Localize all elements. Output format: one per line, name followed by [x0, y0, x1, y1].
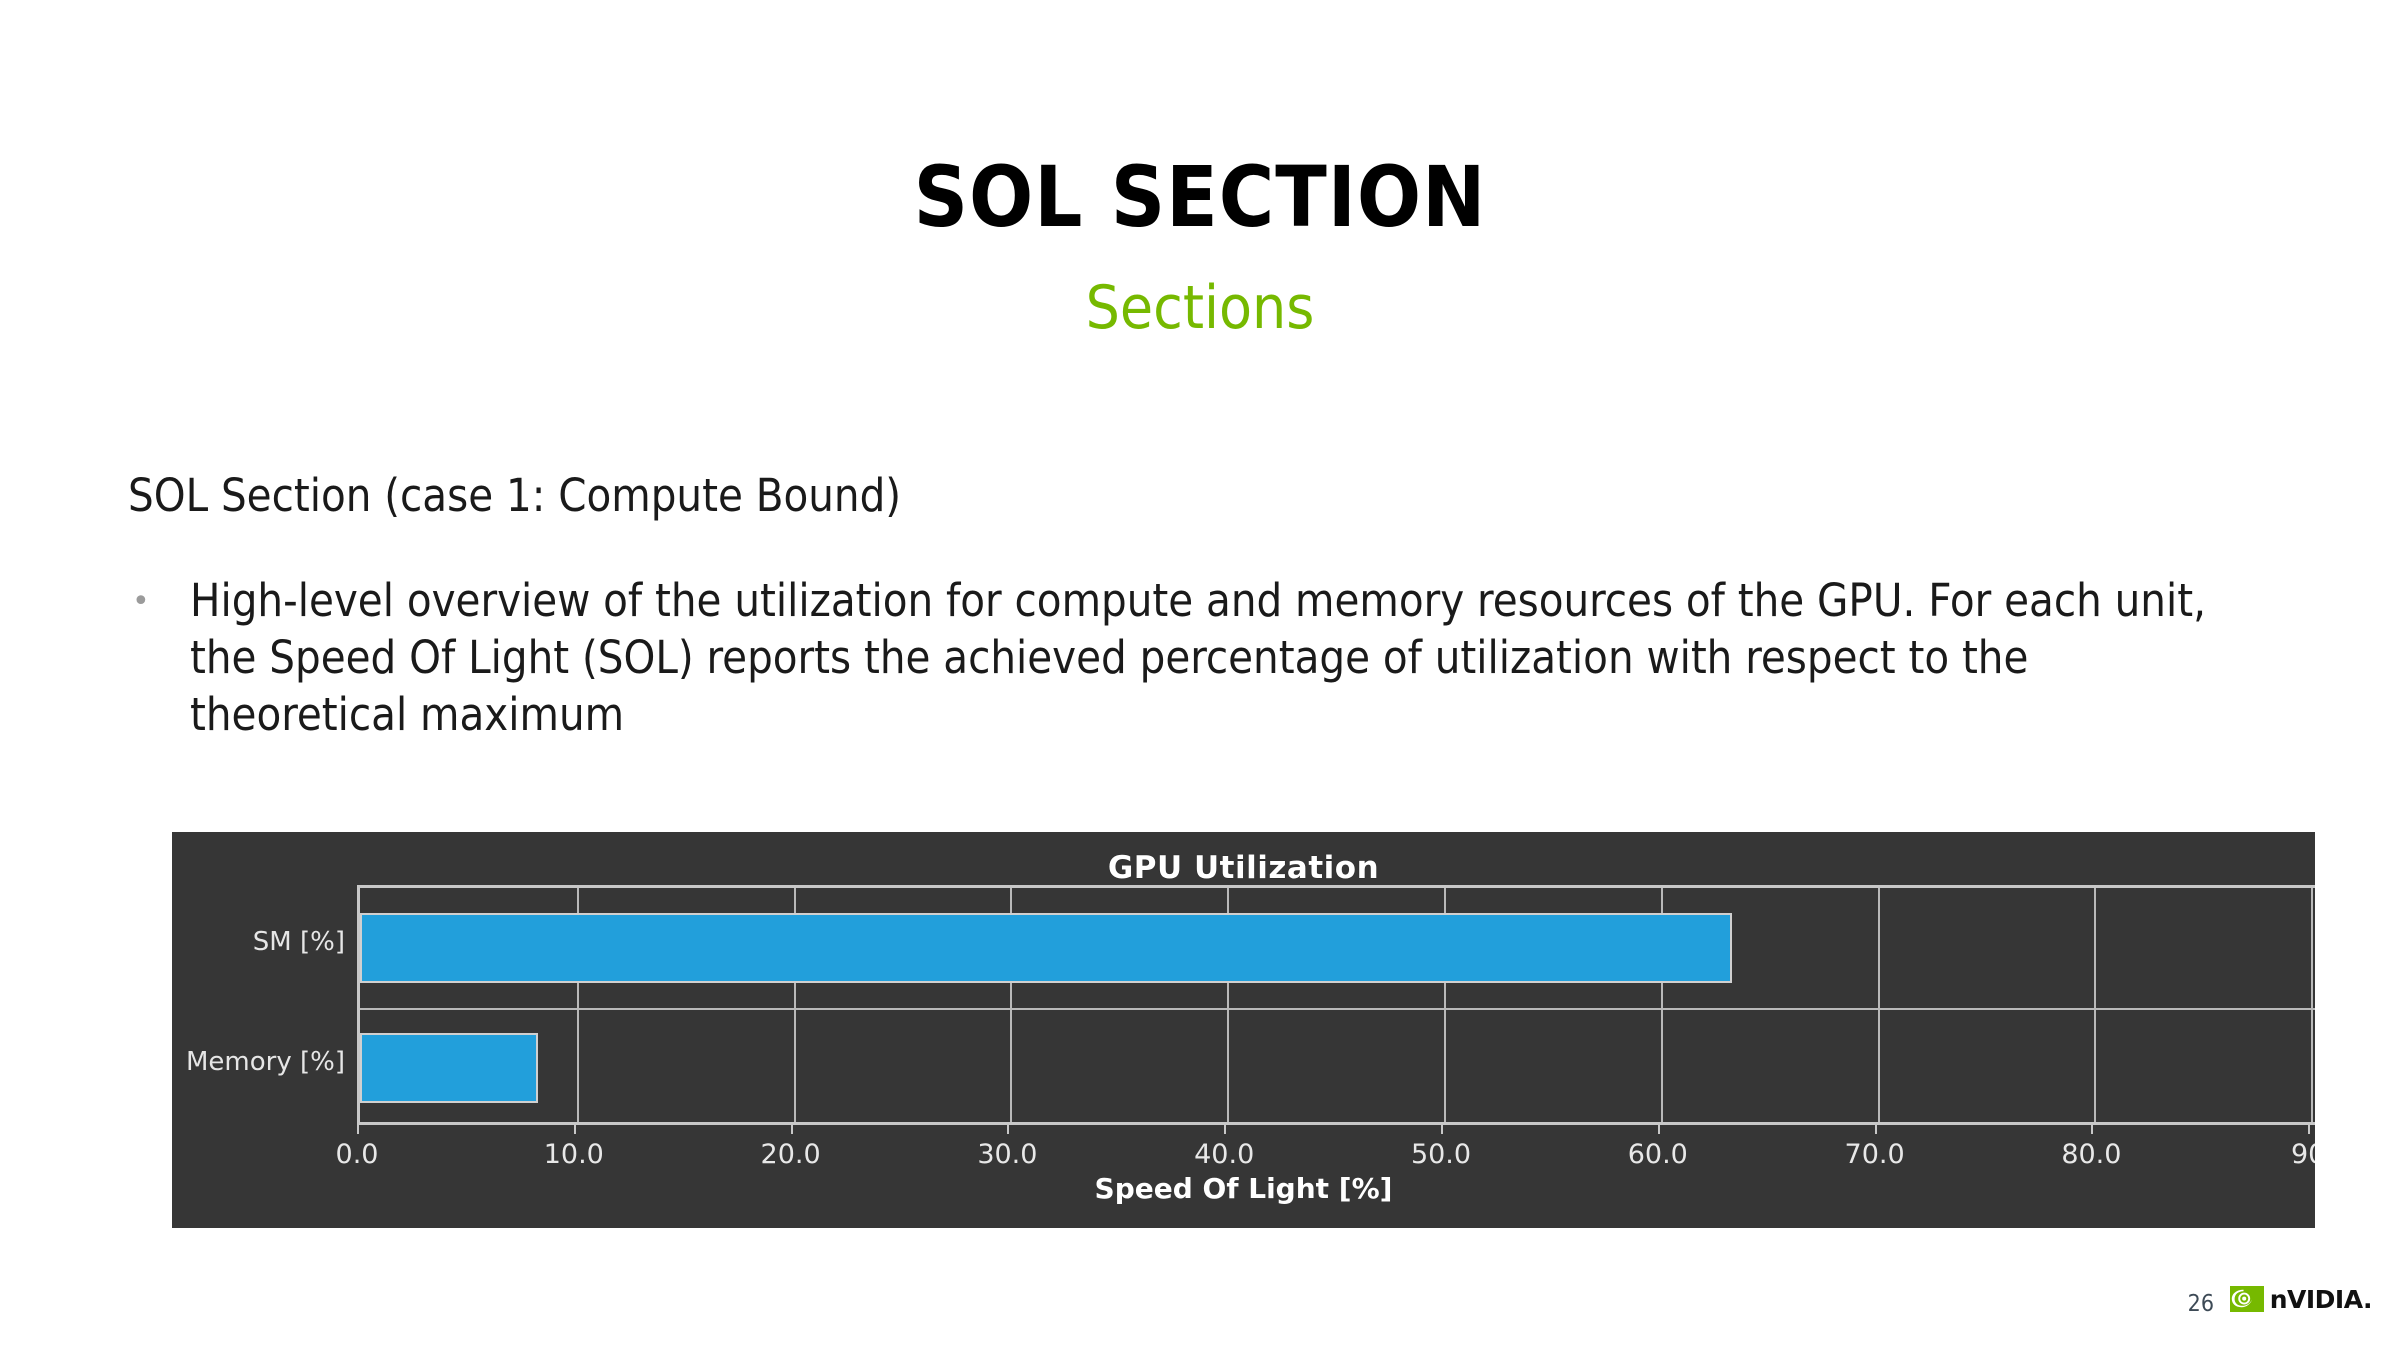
x-axis-tick-label: 40.0: [1194, 1139, 1254, 1170]
chart-plot-area: [357, 885, 2315, 1125]
page-subtitle: Sections: [0, 278, 2400, 338]
chart-gridline: [2311, 888, 2313, 1122]
x-axis-tick-label: 60.0: [1628, 1139, 1688, 1170]
x-axis-tick-mark: [1007, 1125, 1009, 1134]
nvidia-wordmark: nVIDIA.: [2270, 1287, 2372, 1312]
x-axis-tick-mark: [2308, 1125, 2310, 1134]
x-axis-tick-label: 20.0: [761, 1139, 821, 1170]
x-axis-tick-label: 80.0: [2061, 1139, 2121, 1170]
chart-bar: [360, 913, 1732, 983]
x-axis-title: Speed Of Light [%]: [172, 1172, 2315, 1205]
page-title: SOL SECTION: [0, 155, 2400, 239]
x-axis-tick-label: 70.0: [1845, 1139, 1905, 1170]
nvidia-logo: nVIDIA.: [2230, 1286, 2372, 1312]
section-heading: SOL Section (case 1: Compute Bound): [128, 470, 901, 522]
chart-gridline: [1878, 888, 1880, 1122]
x-axis-tick-mark: [1875, 1125, 1877, 1134]
gpu-utilization-chart: GPU Utilization SM [%] Memory [%] 0.010.…: [172, 832, 2315, 1228]
bullet-list: • High-level overview of the utilization…: [128, 572, 2248, 743]
x-axis-tick-label: 10.0: [544, 1139, 604, 1170]
x-axis-tick-mark: [1224, 1125, 1226, 1134]
chart-category-separator: [360, 1008, 2315, 1010]
bullet-point-icon: •: [128, 572, 190, 632]
x-axis-tick-mark: [1441, 1125, 1443, 1134]
x-axis-tick-label: 50.0: [1411, 1139, 1471, 1170]
page-number: 26: [2188, 1291, 2214, 1317]
x-axis-tick-mark: [791, 1125, 793, 1134]
x-axis-tick-mark: [2091, 1125, 2093, 1134]
x-axis-tick-mark: [574, 1125, 576, 1134]
x-axis-tick-label: 0.0: [336, 1139, 379, 1170]
list-item: • High-level overview of the utilization…: [128, 572, 2248, 743]
list-item-text: High-level overview of the utilization f…: [190, 572, 2248, 743]
chart-gridline: [2094, 888, 2096, 1122]
x-axis-tick-mark: [1658, 1125, 1660, 1134]
x-axis-tick-mark: [357, 1125, 359, 1134]
x-axis-tick-label: 30.0: [977, 1139, 1037, 1170]
x-axis-tick-label: 90: [2291, 1139, 2315, 1170]
nvidia-eye-icon: [2230, 1286, 2264, 1312]
chart-title: GPU Utilization: [172, 850, 2315, 886]
y-axis-label-sm: SM [%]: [172, 927, 345, 957]
chart-bar: [360, 1033, 538, 1103]
y-axis-label-memory: Memory [%]: [172, 1047, 345, 1077]
